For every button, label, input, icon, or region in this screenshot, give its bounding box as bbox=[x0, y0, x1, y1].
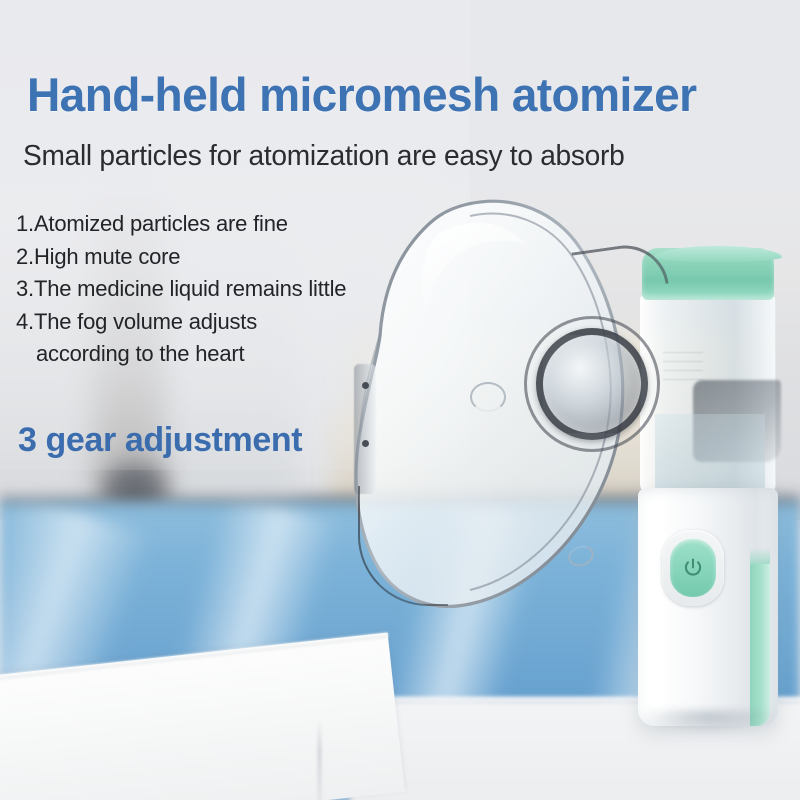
list-item: 1.Atomized particles are fine bbox=[16, 208, 456, 241]
list-item: 4.The fog volume adjusts bbox=[16, 306, 456, 339]
device-base-shadow bbox=[640, 710, 776, 732]
mask-connector-ring bbox=[536, 328, 648, 440]
page-subtitle: Small particles for atomization are easy… bbox=[23, 140, 760, 173]
list-item-number: 2. bbox=[16, 244, 34, 269]
product-marketing-image: Hand-held micromesh atomizer Small parti… bbox=[0, 0, 800, 800]
list-item-number: 1. bbox=[16, 211, 34, 236]
list-item: 2.High mute core bbox=[16, 241, 456, 274]
feature-list: 1.Atomized particles are fine 2.High mut… bbox=[16, 208, 456, 371]
list-item-label: The fog volume adjusts bbox=[34, 309, 257, 334]
list-item-label: Atomized particles are fine bbox=[34, 211, 288, 236]
list-item-label: High mute core bbox=[34, 244, 180, 269]
list-item-number: 4. bbox=[16, 309, 34, 334]
table-seam bbox=[318, 720, 321, 800]
tagline: 3 gear adjustment bbox=[18, 421, 302, 460]
list-item: 3.The medicine liquid remains little bbox=[16, 273, 456, 306]
list-item-number: 3. bbox=[16, 276, 34, 301]
mask-clip-rivet bbox=[362, 382, 369, 389]
list-item-label: The medicine liquid remains little bbox=[34, 276, 346, 301]
device-green-strip bbox=[750, 564, 770, 726]
list-item-continuation: according to the heart bbox=[16, 338, 456, 371]
page-title: Hand-held micromesh atomizer bbox=[27, 67, 772, 122]
mask-vent-hole bbox=[470, 382, 506, 412]
mask-clip-rivet bbox=[362, 440, 369, 447]
